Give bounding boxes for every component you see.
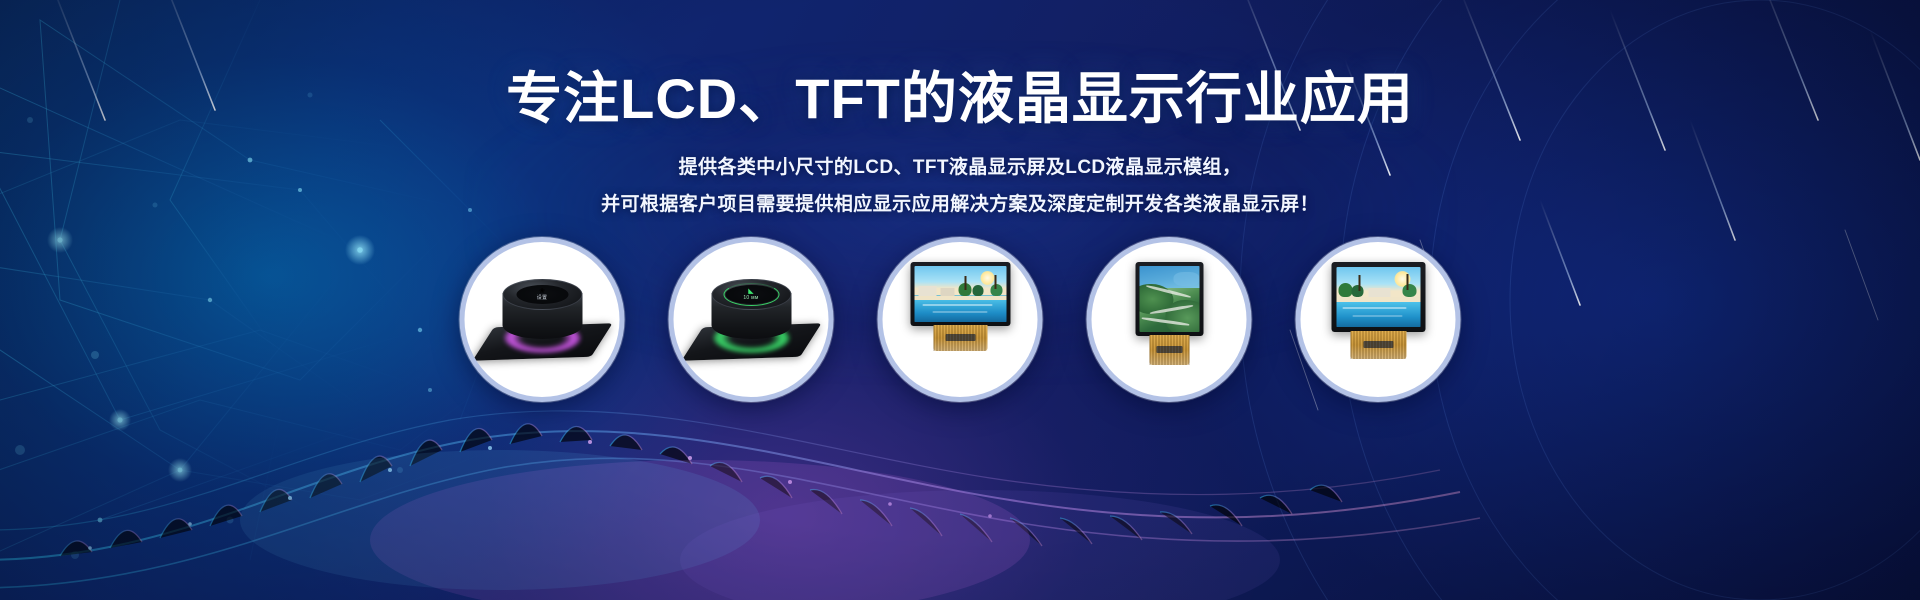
subtitle-line-1: 提供各类中小尺寸的LCD、TFT液晶显示屏及LCD液晶显示模组，: [601, 149, 1319, 186]
device-screen-label: 10 мм: [743, 295, 758, 301]
driver-ic-chip: [1363, 341, 1393, 348]
particle-wave: [0, 411, 1480, 588]
product-circle-4[interactable]: 竖向TFT液晶显示屏: [1087, 237, 1252, 402]
lcd-bezel: [910, 262, 1010, 326]
fpc-ribbon-cable: [1350, 331, 1406, 359]
lcd-screen: [1139, 266, 1199, 332]
lcd-bezel: [1331, 262, 1425, 332]
device-screen-label: 设置: [537, 295, 548, 301]
product-circle-3[interactable]: 宽屏TFT液晶显示屏: [878, 237, 1043, 402]
fpc-ribbon-cable: [933, 325, 987, 351]
fpc-ribbon-cable: [1149, 335, 1189, 365]
product-image-round-led-speaker-green: ◣ 10 мм 圆形智能音箱（绿色灯环）: [685, 254, 817, 386]
product-image-round-led-speaker-purple: ❀ 设置 圆形智能音箱（紫色灯环）: [476, 254, 608, 386]
product-image-tft-lcd-module: TFT液晶显示模组: [1312, 254, 1444, 386]
flower-icon: ❀: [539, 288, 545, 295]
hero-banner: 专注LCD、TFT的液晶显示行业应用 提供各类中小尺寸的LCD、TFT液晶显示屏…: [0, 0, 1920, 600]
product-circle-2[interactable]: ◣ 10 мм 圆形智能音箱（绿色灯环）: [669, 237, 834, 402]
product-image-tft-lcd-portrait: 竖向TFT液晶显示屏: [1103, 254, 1235, 386]
product-circle-5[interactable]: TFT液晶显示模组: [1296, 237, 1461, 402]
product-circle-1[interactable]: ❀ 设置 圆形智能音箱（紫色灯环）: [460, 237, 625, 402]
driver-ic-chip: [1156, 346, 1182, 353]
product-showcase: ❀ 设置 圆形智能音箱（紫色灯环） ◣ 10 мм: [460, 237, 1461, 402]
lcd-bezel: [1135, 262, 1203, 336]
product-image-tft-lcd-widescreen: 宽屏TFT液晶显示屏: [894, 254, 1026, 386]
banner-subtitle: 提供各类中小尺寸的LCD、TFT液晶显示屏及LCD液晶显示模组， 并可根据客户项…: [601, 149, 1319, 223]
triangle-icon: ◣: [748, 288, 753, 295]
subtitle-line-2: 并可根据客户项目需要提供相应显示应用解决方案及深度定制开发各类液晶显示屏！: [601, 186, 1319, 223]
banner-content: 专注LCD、TFT的液晶显示行业应用 提供各类中小尺寸的LCD、TFT液晶显示屏…: [0, 0, 1920, 223]
driver-ic-chip: [945, 334, 975, 341]
device-screen: ❀ 设置: [516, 285, 568, 304]
lcd-screen: [1336, 267, 1420, 327]
banner-headline: 专注LCD、TFT的液晶显示行业应用: [506, 68, 1414, 131]
device-screen: ◣ 10 мм: [725, 285, 777, 304]
lcd-screen: [914, 266, 1006, 322]
